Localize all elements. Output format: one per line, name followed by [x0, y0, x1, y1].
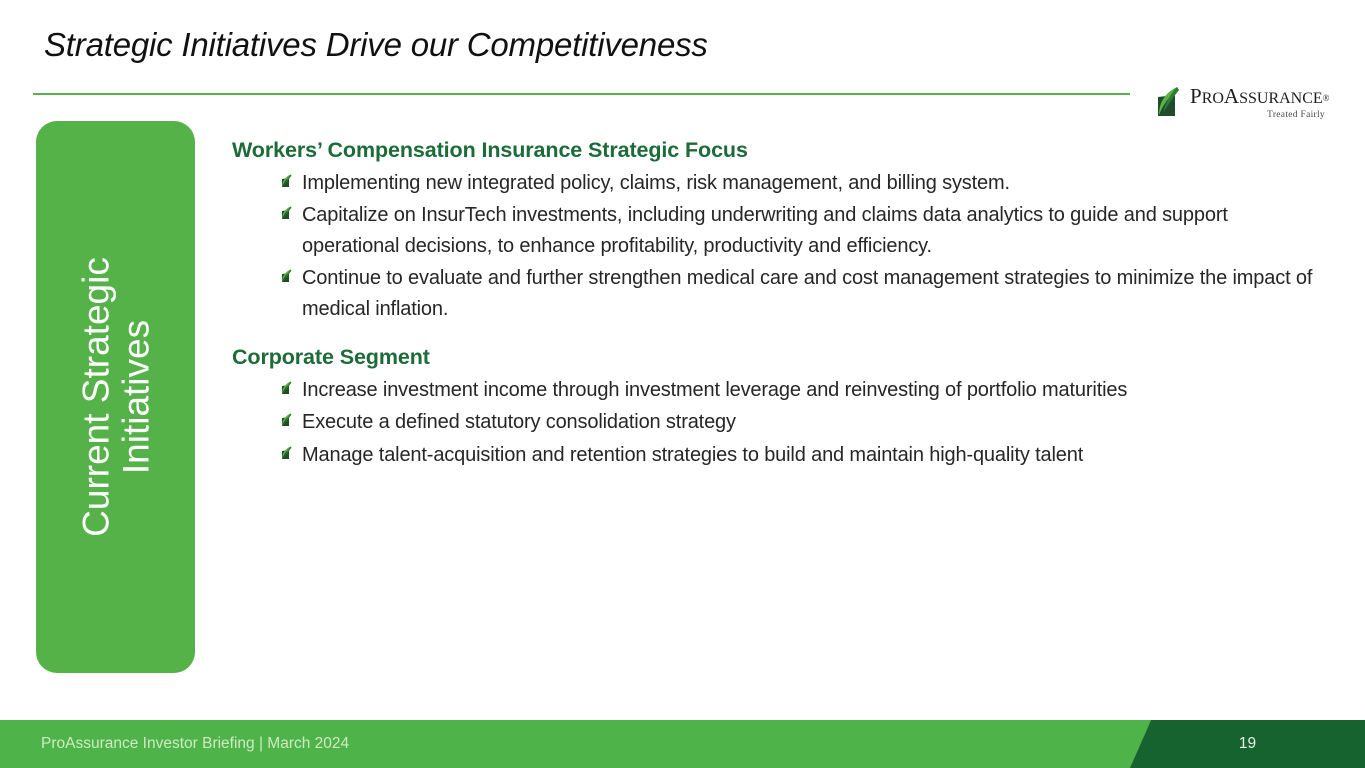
- footer-bar: ProAssurance Investor Briefing | March 2…: [0, 720, 1365, 768]
- proassurance-logo: PROASSURANCE® Treated Fairly: [1155, 84, 1327, 128]
- registered-mark: ®: [1323, 93, 1330, 103]
- side-tab-label: Current Strategic Initiatives: [76, 127, 155, 667]
- leaf-bullet-icon: [281, 269, 294, 284]
- list-item-text: Increase investment income through inves…: [302, 379, 1127, 401]
- page-title: Strategic Initiatives Drive our Competit…: [44, 26, 708, 64]
- list-item: Continue to evaluate and further strengt…: [232, 263, 1322, 324]
- title-divider: [33, 93, 1130, 95]
- page-number-block: 19: [1130, 720, 1365, 768]
- list-item: Capitalize on InsurTech investments, inc…: [232, 200, 1322, 261]
- bullet-list: Implementing new integrated policy, clai…: [232, 168, 1322, 324]
- logo-word-p: P: [1190, 84, 1202, 108]
- list-item-text: Manage talent-acquisition and retention …: [302, 444, 1083, 466]
- logo-word-a: A: [1224, 84, 1239, 108]
- list-item: Execute a defined statutory consolidatio…: [232, 407, 1322, 437]
- section-workers-compensation: Workers’ Compensation Insurance Strategi…: [232, 138, 1322, 324]
- list-item-text: Capitalize on InsurTech investments, inc…: [302, 204, 1228, 256]
- bullet-list: Increase investment income through inves…: [232, 375, 1322, 470]
- list-item: Implementing new integrated policy, clai…: [232, 168, 1322, 198]
- logo-tagline: Treated Fairly: [1267, 110, 1325, 120]
- section-corporate-segment: Corporate Segment Increase investment in…: [232, 345, 1322, 470]
- side-tab-label-line2: Initiatives: [116, 127, 156, 667]
- logo-wordmark: PROASSURANCE®: [1190, 86, 1330, 107]
- list-item-text: Continue to evaluate and further strengt…: [302, 267, 1312, 319]
- section-heading: Workers’ Compensation Insurance Strategi…: [232, 138, 1322, 163]
- logo-word-ssurance: SSURANCE: [1239, 90, 1323, 107]
- leaf-logo-icon: [1155, 86, 1185, 118]
- side-tab-current-strategic-initiatives: Current Strategic Initiatives: [36, 121, 195, 673]
- list-item: Increase investment income through inves…: [232, 375, 1322, 405]
- side-tab-label-line1: Current Strategic: [76, 127, 116, 667]
- page-number: 19: [1130, 735, 1365, 753]
- footer-label: ProAssurance Investor Briefing | March 2…: [41, 735, 349, 753]
- content-area: Workers’ Compensation Insurance Strategi…: [232, 138, 1322, 472]
- section-heading: Corporate Segment: [232, 345, 1322, 370]
- leaf-bullet-icon: [281, 413, 294, 428]
- leaf-bullet-icon: [281, 174, 294, 189]
- leaf-bullet-icon: [281, 206, 294, 221]
- leaf-bullet-icon: [281, 446, 294, 461]
- slide: Strategic Initiatives Drive our Competit…: [0, 0, 1365, 768]
- list-item: Manage talent-acquisition and retention …: [232, 440, 1322, 470]
- list-item-text: Implementing new integrated policy, clai…: [302, 172, 1010, 194]
- list-item-text: Execute a defined statutory consolidatio…: [302, 411, 736, 433]
- leaf-bullet-icon: [281, 381, 294, 396]
- logo-word-ro: RO: [1202, 90, 1224, 107]
